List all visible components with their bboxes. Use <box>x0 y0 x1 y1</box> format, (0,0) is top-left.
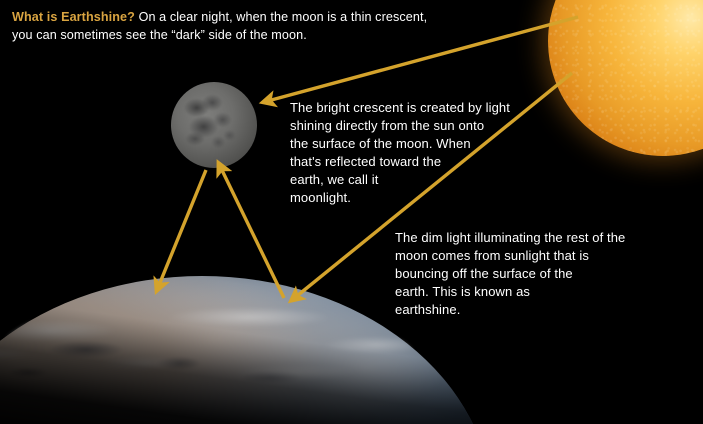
callout-moonlight-line: the surface of the moon. When <box>290 135 525 153</box>
callout-earthshine-line: The dim light illuminating the rest of t… <box>395 229 635 247</box>
arrow-earth-to-moon <box>219 164 284 298</box>
callout-moonlight-line: earth, we call it <box>290 171 525 189</box>
callout-earthshine-line: moon comes from sunlight that is <box>395 247 635 265</box>
callout-earthshine-line: earthshine. <box>395 301 635 319</box>
arrow-moon-to-earth <box>157 170 206 290</box>
page-title: What is Earthshine? On a clear night, wh… <box>12 8 432 45</box>
callout-moonlight-line: shining directly from the sun onto <box>290 117 525 135</box>
callout-moonlight: The bright crescent is created by light … <box>290 99 525 207</box>
earthshine-diagram: What is Earthshine? On a clear night, wh… <box>0 0 703 424</box>
callout-moonlight-line: that's reflected toward the <box>290 153 525 171</box>
callout-earthshine: The dim light illuminating the rest of t… <box>395 229 635 319</box>
callout-earthshine-line: earth. This is known as <box>395 283 635 301</box>
callout-earthshine-line: bouncing off the surface of the <box>395 265 635 283</box>
headline-question: What is Earthshine? <box>12 10 135 24</box>
callout-moonlight-line: moonlight. <box>290 189 525 207</box>
light-path-arrows <box>0 0 703 424</box>
callout-moonlight-line: The bright crescent is created by light <box>290 99 525 117</box>
